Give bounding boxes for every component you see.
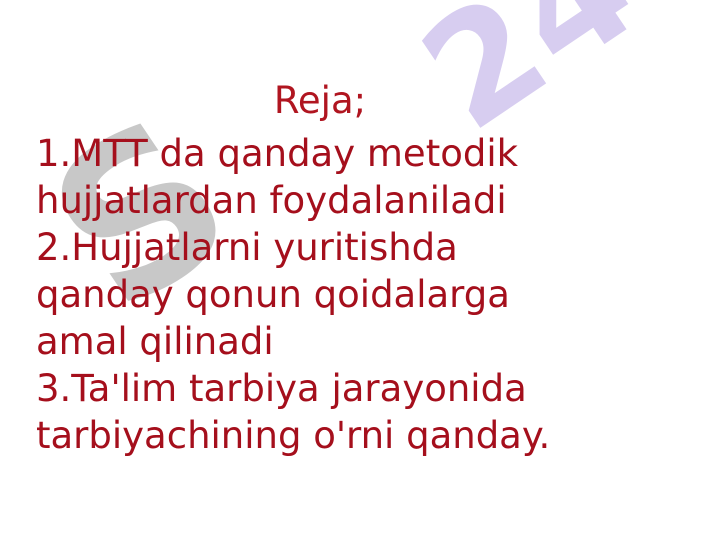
plan-list: 1.MTT da qanday metodik hujjatlardan foy… bbox=[36, 130, 686, 459]
list-item: 2.Hujjatlarni yuritishda bbox=[36, 224, 686, 271]
list-item: 1.MTT da qanday metodik bbox=[36, 130, 686, 177]
list-item: qanday qonun qoidalarga bbox=[36, 271, 686, 318]
slide-title: Reja; bbox=[0, 78, 640, 124]
list-item: hujjatlardan foydalaniladi bbox=[36, 177, 686, 224]
slide-canvas: S 24 Reja; 1.MTT da qanday metodik hujja… bbox=[0, 0, 720, 540]
list-item: amal qilinadi bbox=[36, 318, 686, 365]
list-item: tarbiyachining o'rni qanday. bbox=[36, 412, 686, 459]
slide-text-layer: Reja; 1.MTT da qanday metodik hujjatlard… bbox=[0, 0, 720, 540]
list-item: 3.Ta'lim tarbiya jarayonida bbox=[36, 365, 686, 412]
